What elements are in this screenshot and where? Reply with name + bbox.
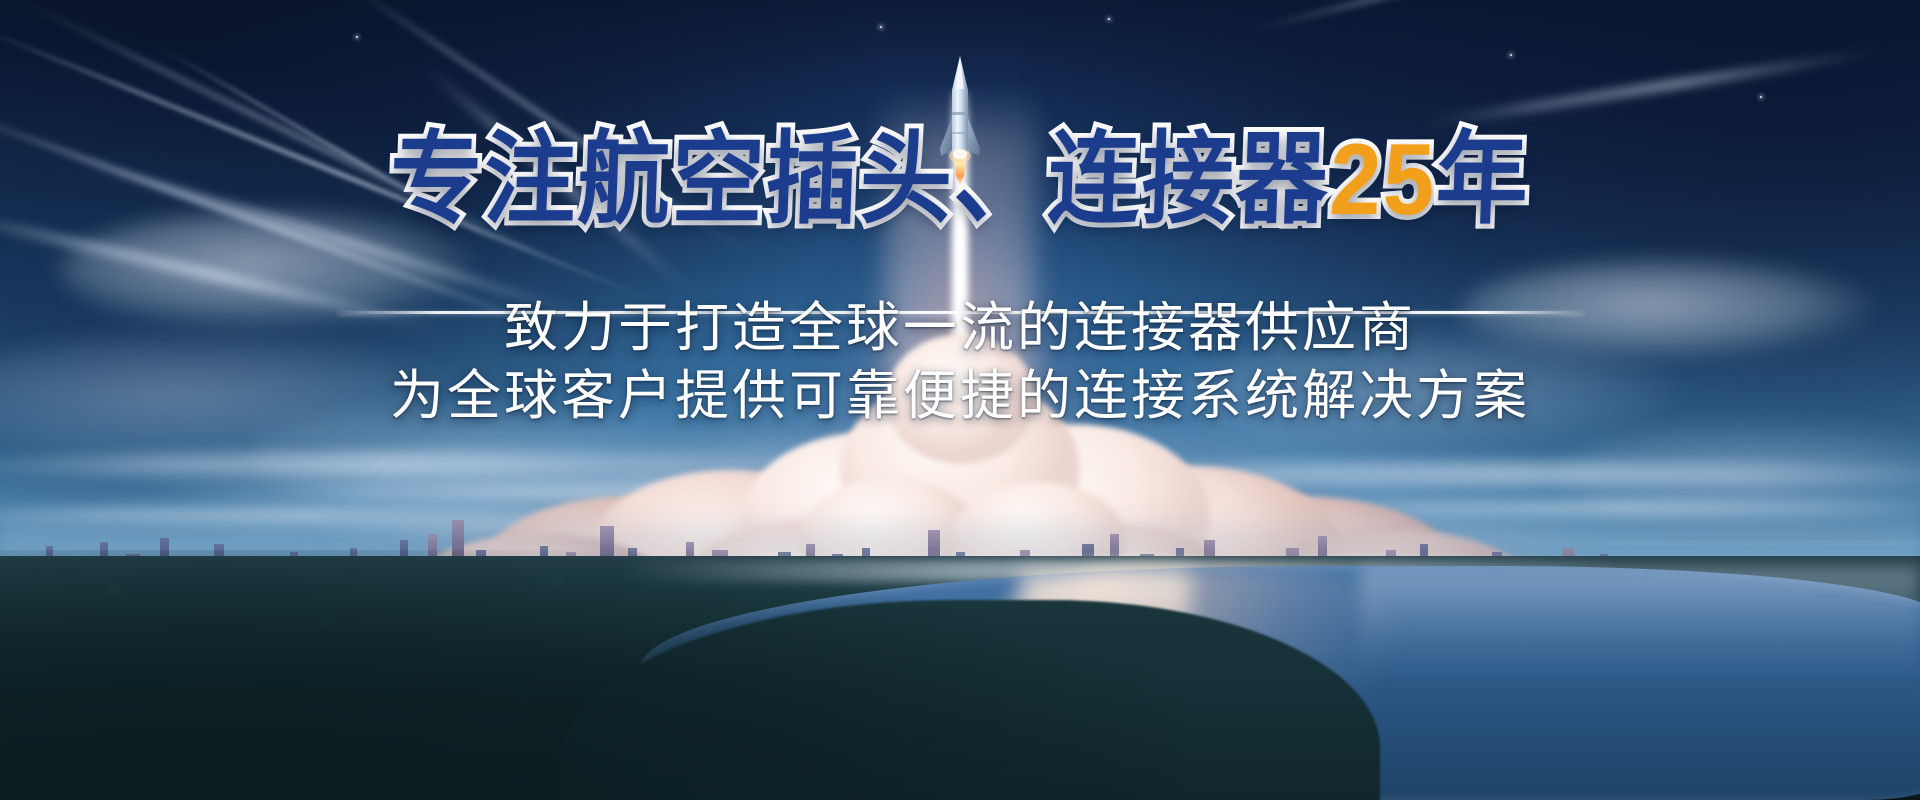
forest-foreground-shadow [0,550,1180,800]
star [1510,54,1512,56]
page-title: 专注航空插头、连接器25年 [0,134,1920,226]
hero-banner: 专注航空插头、连接器25年 致力于打造全球一流的连接器供应商 为全球客户提供可靠… [0,0,1920,800]
headline-segment-gold: 25 [1328,129,1438,230]
subtitle-line-1: 致力于打造全球一流的连接器供应商 [0,298,1920,358]
headline-segment-blue-2: 年 [1434,129,1532,230]
star [1760,96,1762,98]
headline-segment-blue-1: 专注航空插头、连接器 [388,129,1332,230]
star [356,36,358,38]
lake-far-water [1360,566,1920,686]
star [880,26,882,28]
subtitle-line-2: 为全球客户提供可靠便捷的连接系统解决方案 [0,366,1920,426]
star [1108,18,1110,20]
